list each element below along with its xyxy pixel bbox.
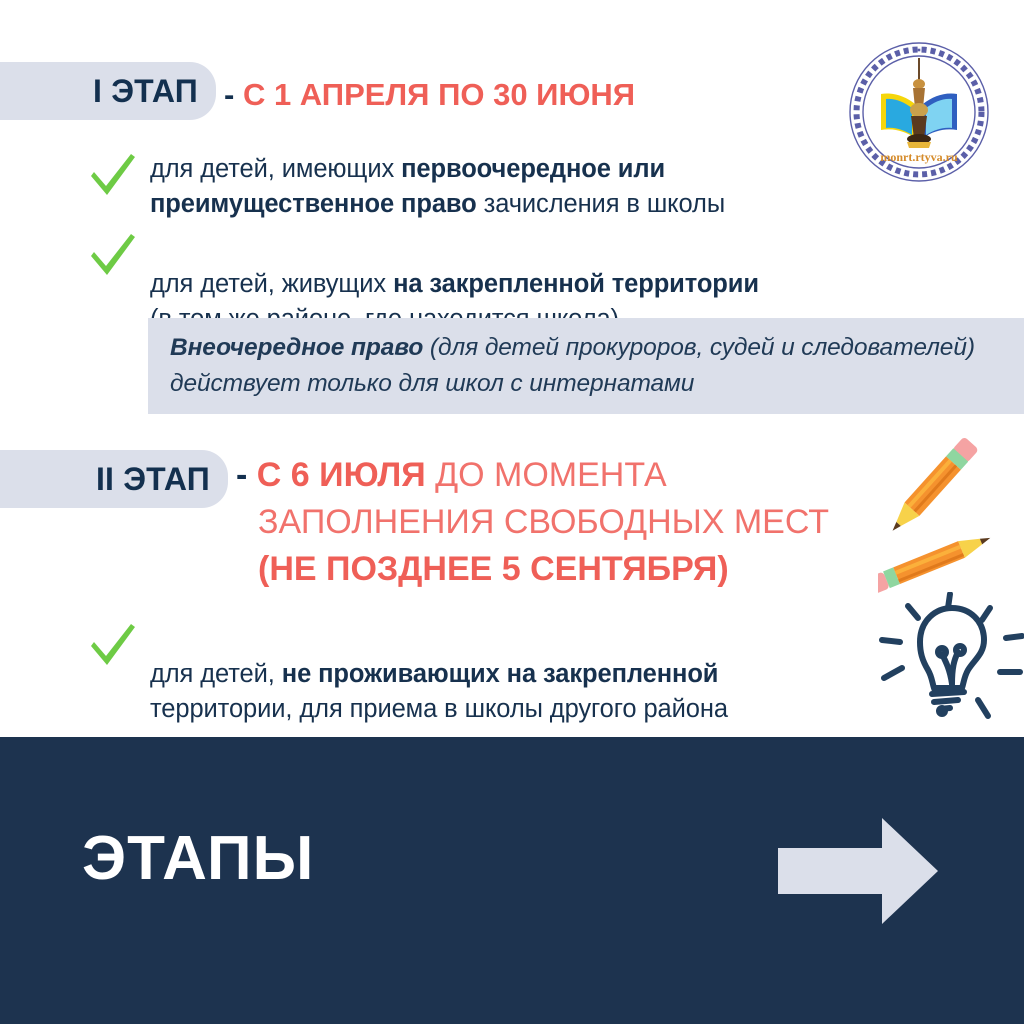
bullet-part-normal: для детей, имеющих — [150, 155, 401, 183]
stage-2-heading-light-2: ЗАПОЛНЕНИЯ СВОБОДНЫХ МЕСТ — [258, 503, 829, 541]
stage-1-chip: I ЭТАП — [0, 62, 216, 120]
stage-2-dash: - — [236, 456, 247, 494]
stage-2-heading-bold-1: С 6 ИЮЛЯ — [257, 456, 435, 494]
poster-root: monrt.rtyva.ru I ЭТАП - С 1 АПРЕЛЯ ПО 30… — [0, 0, 1024, 1024]
stage-2-heading: - С 6 ИЮЛЯ ДО МОМЕНТА ЗАПОЛНЕНИЯ СВОБОДН… — [236, 452, 829, 593]
stage-1-bullet-1-text: для детей, имеющих первоочередное или пр… — [150, 148, 884, 222]
lightbulb-illustration — [872, 592, 1024, 724]
bullet-part-normal-2: зачисления в школы — [477, 190, 725, 218]
stage-1-heading-line-1: С 1 АПРЕЛЯ ПО 30 ИЮНЯ — [243, 77, 635, 112]
bullet-part-bold: на закрепленной территории — [393, 270, 759, 298]
footer-title: ЭТАПЫ — [82, 828, 314, 890]
bullet-part-bold: не проживающих на закрепленной — [282, 660, 719, 688]
stage-1-dash: - — [224, 77, 234, 112]
note-lead-bold: Внеочередное право — [170, 334, 423, 361]
stage-2-bullet-1-text: для детей, не проживающих на закрепленно… — [150, 618, 728, 728]
stage-2-chip: II ЭТАП — [0, 450, 228, 508]
stage-1-note-text: Внеочередное право (для детей прокуроров… — [170, 330, 1002, 401]
stage-2-chip-label: II ЭТАП — [96, 461, 210, 498]
stage-2-heading-light-1: ДО МОМЕНТА — [435, 456, 667, 494]
bullet-part-normal: для детей, живущих — [150, 270, 393, 298]
stage-1-heading: - С 1 АПРЕЛЯ ПО 30 ИЮНЯ — [224, 78, 635, 113]
check-icon — [84, 148, 140, 204]
stage-1-note-box: Внеочередное право (для детей прокуроров… — [148, 318, 1024, 414]
check-icon — [84, 618, 140, 674]
logo-caption-text: monrt.rtyva.ru — [880, 150, 958, 164]
stage-2-heading-line-2: ЗАПОЛНЕНИЯ СВОБОДНЫХ МЕСТ — [258, 499, 829, 546]
stage-2-heading-line-1: - С 6 ИЮЛЯ ДО МОМЕНТА — [236, 452, 829, 499]
stage-2-heading-bold-3: (НЕ ПОЗДНЕЕ 5 СЕНТЯБРЯ) — [258, 550, 729, 588]
pencils-illustration — [878, 438, 1024, 598]
arrow-right-icon — [778, 818, 938, 924]
check-icon — [84, 228, 140, 284]
bullet-part-normal: для детей, — [150, 660, 282, 688]
stage-2-bullet-1: для детей, не проживающих на закрепленно… — [84, 618, 914, 728]
stage-1-chip-label: I ЭТАП — [93, 73, 198, 110]
stage-2-heading-line-3: (НЕ ПОЗДНЕЕ 5 СЕНТЯБРЯ) — [258, 546, 829, 593]
bullet-part-normal-2: территории, для приема в школы другого р… — [150, 695, 728, 723]
stage-1-bullet-1: для детей, имеющих первоочередное или пр… — [84, 148, 884, 222]
